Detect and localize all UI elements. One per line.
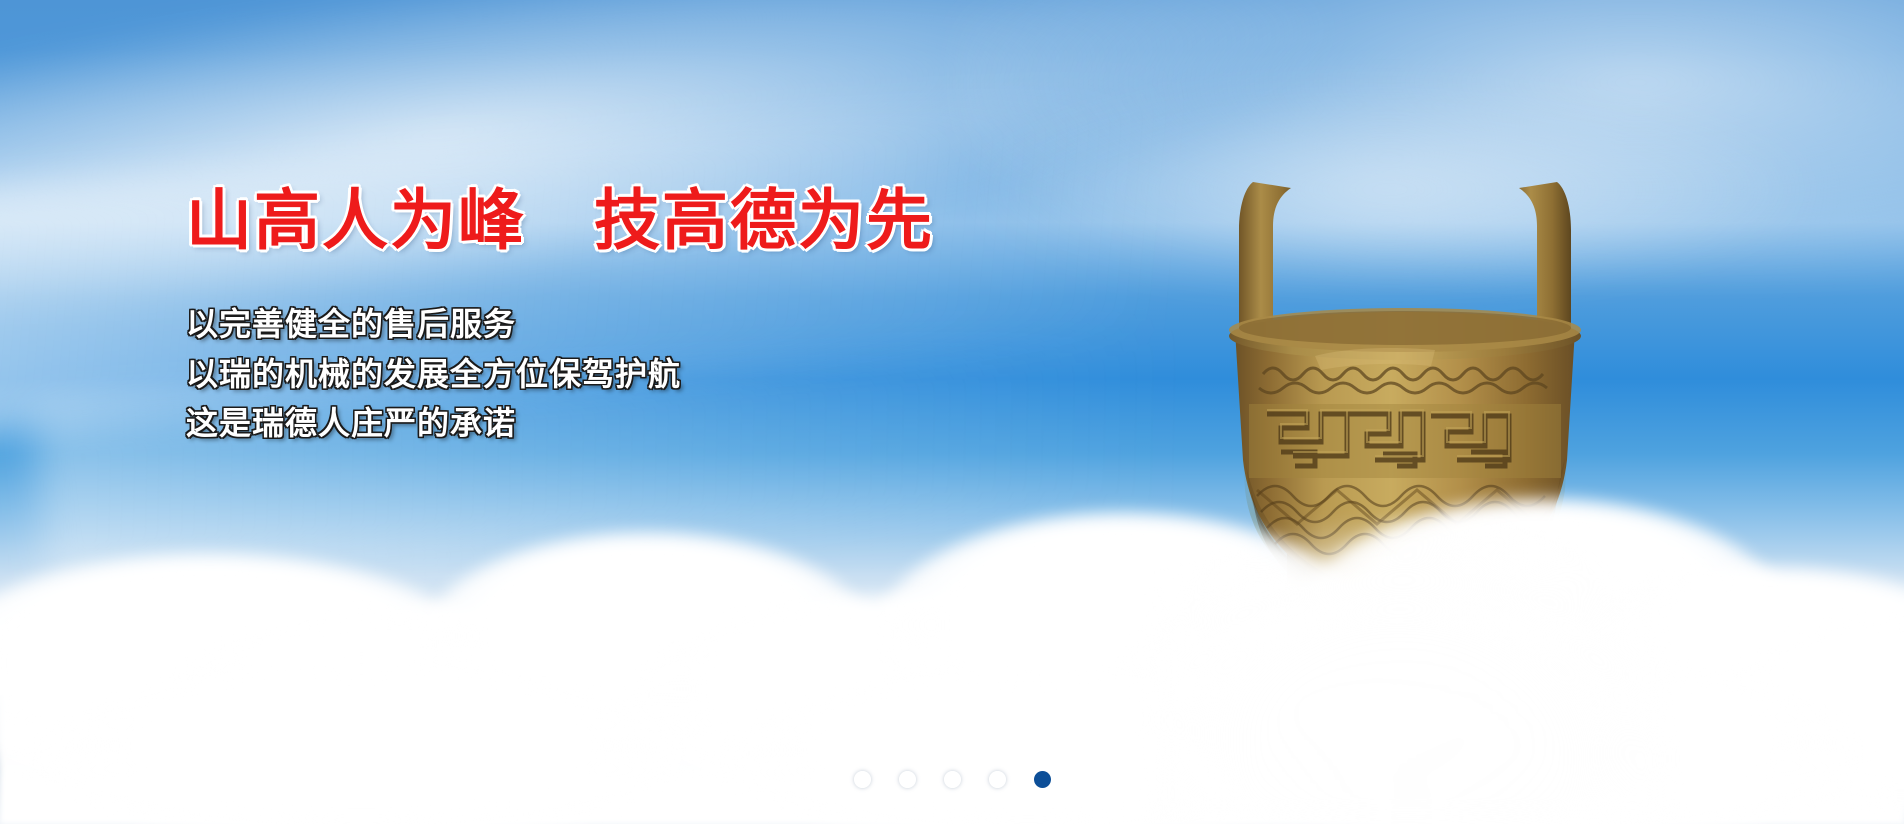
carousel-dot-4[interactable]	[989, 771, 1006, 788]
bronze-ding-vessel	[1195, 160, 1615, 760]
carousel-dot-1[interactable]	[854, 771, 871, 788]
carousel-dot-5[interactable]	[1034, 771, 1051, 788]
banner-subline: 以完善健全的售后服务	[186, 300, 1086, 350]
banner-subline-list: 以完善健全的售后服务 以瑞的机械的发展全方位保驾护航 这是瑞德人庄严的承诺	[186, 300, 1086, 449]
banner-subline: 以瑞的机械的发展全方位保驾护航	[186, 350, 1086, 400]
carousel-pagination[interactable]	[0, 771, 1904, 788]
banner-subline: 这是瑞德人庄严的承诺	[186, 399, 1086, 449]
snow-mountain-range	[0, 445, 1904, 824]
carousel-dot-3[interactable]	[944, 771, 961, 788]
banner-headline: 山高人为峰 技高德为先	[186, 186, 1086, 256]
carousel-dot-2[interactable]	[899, 771, 916, 788]
banner-copy: 山高人为峰 技高德为先 以完善健全的售后服务 以瑞的机械的发展全方位保驾护航 这…	[186, 186, 1086, 449]
hero-banner-slide: 山高人为峰 技高德为先 以完善健全的售后服务 以瑞的机械的发展全方位保驾护航 这…	[0, 0, 1904, 824]
